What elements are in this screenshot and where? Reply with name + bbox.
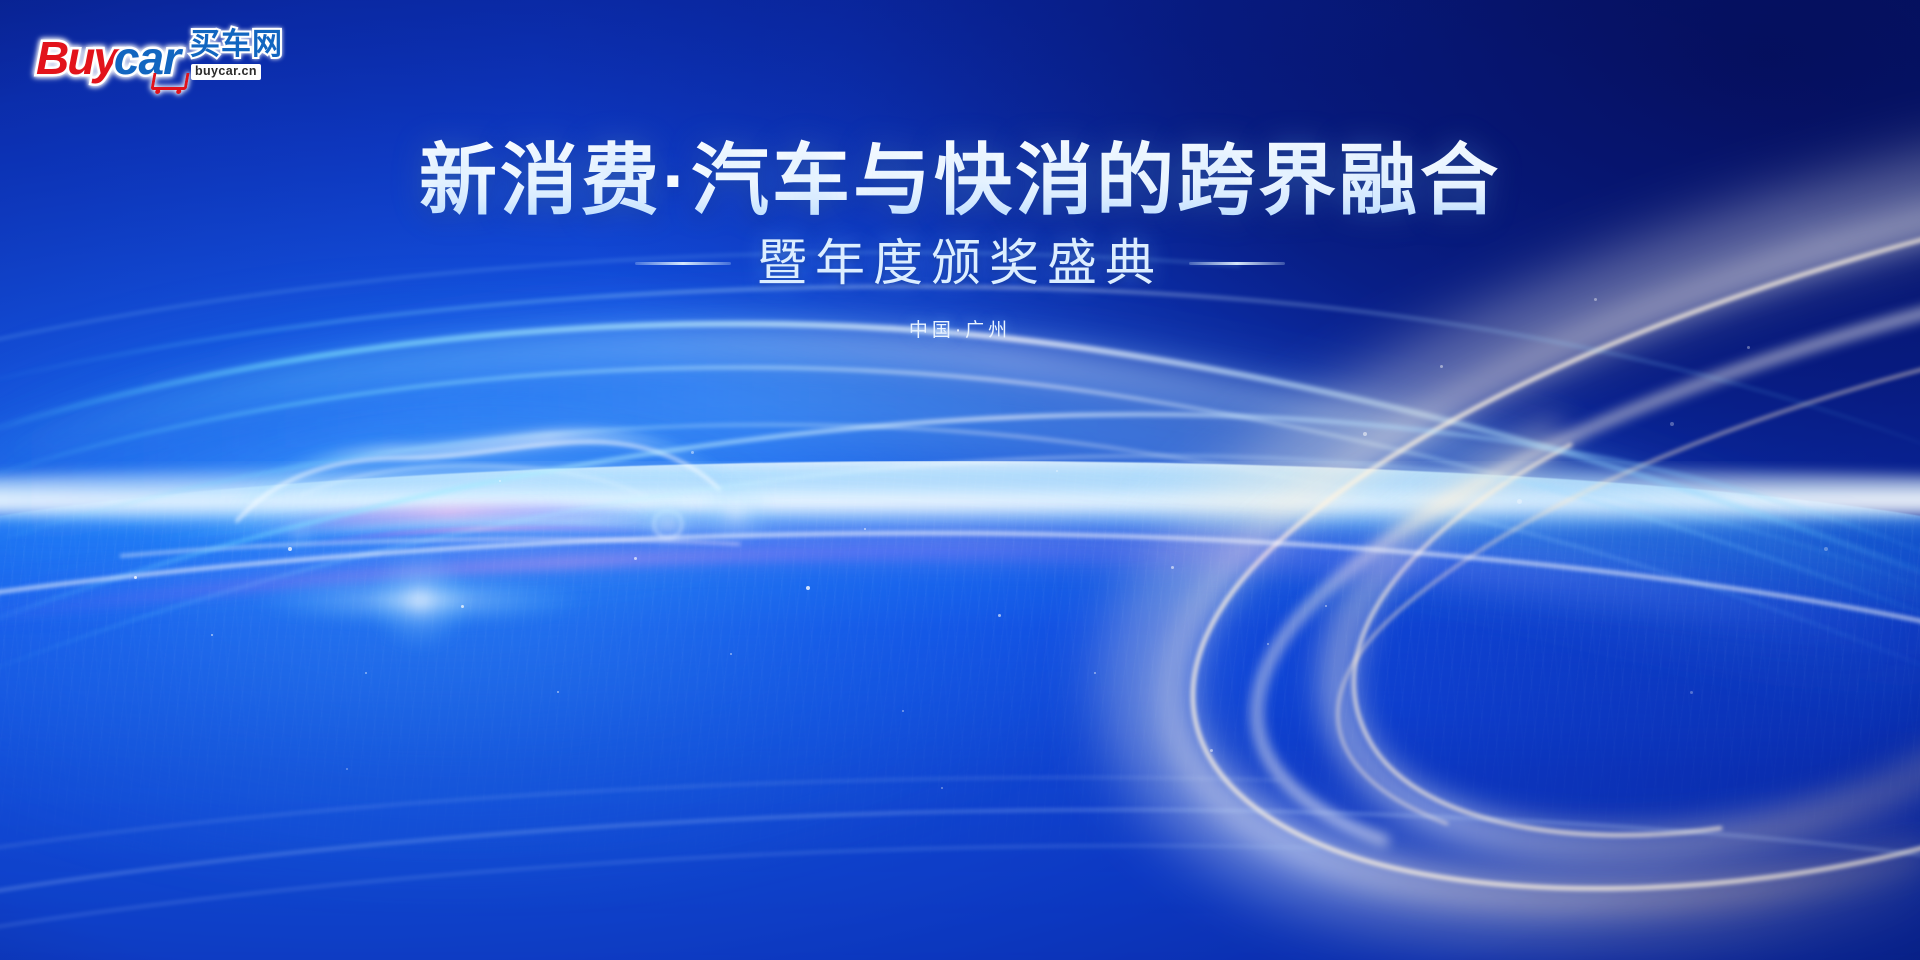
logo-chinese-block: 买车网 buycar.cn bbox=[190, 30, 283, 80]
event-title: 新消费·汽车与快消的跨界融合 bbox=[0, 138, 1920, 222]
logo-buy-text: Buy bbox=[36, 37, 117, 81]
headline-block: 新消费·汽车与快消的跨界融合 暨年度颁奖盛典 中国·广州 bbox=[0, 138, 1920, 342]
subtitle-row: 暨年度颁奖盛典 bbox=[0, 236, 1920, 291]
logo-url-text: buycar.cn bbox=[191, 64, 261, 80]
event-banner-stage: Buy car 买车网 buycar.cn 新消费·汽车与快消的跨界融合 暨年度… bbox=[0, 0, 1920, 960]
subtitle-dash-left bbox=[635, 262, 731, 265]
logo-chinese-text: 买车网 bbox=[190, 30, 283, 60]
logo-wordmark: Buy car bbox=[36, 37, 180, 81]
event-location: 中国·广州 bbox=[0, 315, 1920, 342]
shopping-cart-icon bbox=[151, 73, 190, 90]
subtitle-dash-right bbox=[1189, 262, 1285, 265]
event-subtitle: 暨年度颁奖盛典 bbox=[757, 236, 1163, 291]
buycar-logo[interactable]: Buy car 买车网 buycar.cn bbox=[30, 26, 291, 87]
